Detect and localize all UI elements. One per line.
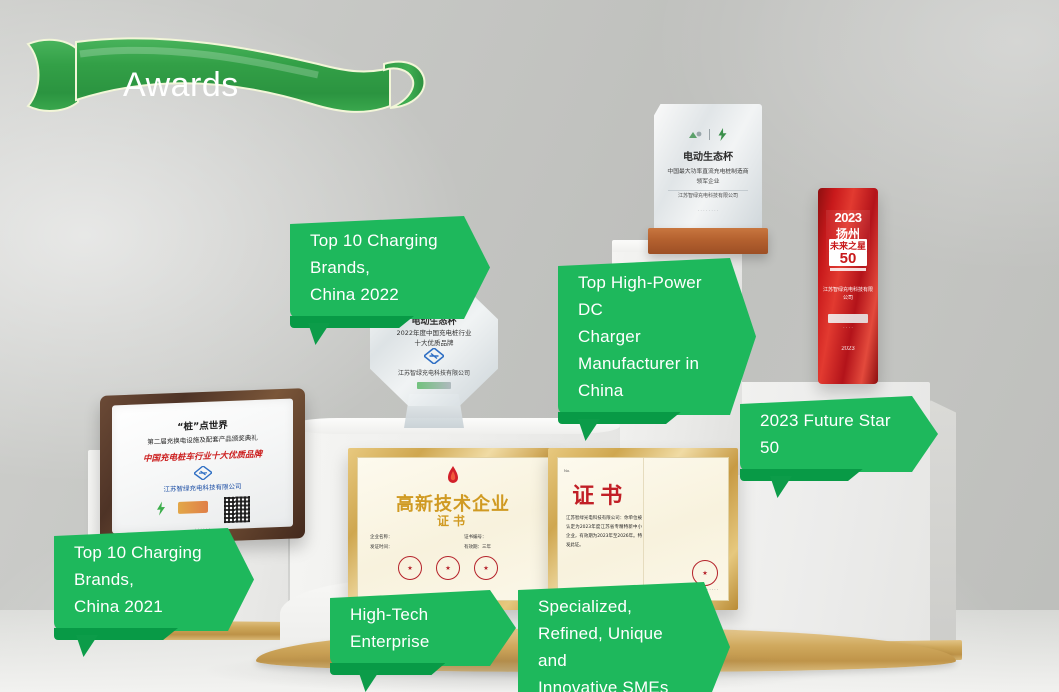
red-trophy-rank: 50: [829, 251, 868, 266]
callout-top-high-power-dc[interactable]: Top High-Power DC Charger Manufacturer i…: [558, 258, 756, 415]
cert-seal-3: [474, 556, 498, 580]
crystal-title: 电动生态杯: [654, 148, 762, 163]
plaque-frame: “桩”点世界 第二届充换电设施及配套产品颁奖典礼 中国充电桩车行业十大优质品牌 …: [100, 388, 305, 546]
octagon-footer-logo: [417, 382, 451, 389]
award-crystal-dc: 电动生态杯 中国最大功率直流充电桩制造商 领军企业 江苏智绿充电科技有限公司 ·…: [648, 104, 768, 256]
plaque-panel: “桩”点世界 第二届充换电设施及配套产品颁奖典礼 中国充电桩车行业十大优质品牌 …: [112, 399, 293, 534]
callout-top10-2021-label: Top 10 Charging Brands, China 2021: [54, 528, 254, 631]
plaque-qr-code: [224, 496, 250, 523]
crystal-company: 江苏智绿充电科技有限公司: [654, 192, 762, 199]
plaque-company: 江苏智绿充电科技有限公司: [112, 479, 293, 496]
callout-future-star-50-shade: [740, 469, 863, 481]
callout-high-tech-enterprise-shade: [330, 663, 445, 675]
crystal-line2: 中国最大功率直流充电桩制造商: [654, 166, 762, 175]
octagon-line3: 十大优质品牌: [370, 337, 498, 347]
ribbon-title: Awards: [123, 66, 239, 105]
cert-hightech-subtitle: 证书: [358, 512, 548, 529]
plaque-logo-diamond: [194, 466, 212, 481]
award-plaque-2021: “桩”点世界 第二届充换电设施及配套产品颁奖典礼 中国充电桩车行业十大优质品牌 …: [100, 392, 305, 542]
octagon-diamond-icon: [424, 348, 444, 364]
cert-seal-1: [398, 556, 422, 580]
cert-sme-body: 江苏智绿光电科技有限公司：你单位被认定为2023年度江苏省专精特新中小企业，有效…: [566, 514, 642, 550]
crystal-logo-row: [687, 128, 729, 141]
cert-sme-number: No.: [564, 468, 570, 473]
callout-top10-2021[interactable]: Top 10 Charging Brands, China 2021: [54, 528, 254, 631]
red-trophy-year: 2023: [829, 210, 868, 225]
callout-specialized-smes-label: Specialized, Refined, Unique and Innovat…: [518, 582, 730, 692]
callout-specialized-smes[interactable]: Specialized, Refined, Unique and Innovat…: [518, 582, 730, 692]
cert-hightech-field-number: 证书编号：: [464, 534, 487, 540]
callout-top-high-power-dc-label: Top High-Power DC Charger Manufacturer i…: [558, 258, 756, 415]
red-trophy-underline: [830, 268, 865, 271]
plaque-sponsor-logo-1: [154, 501, 168, 516]
cert-hightech-field-valid: 有效期：三年: [464, 544, 491, 550]
cert-seal-2: [436, 556, 460, 580]
crystal-line3: 领军企业: [654, 176, 762, 185]
crystal-footer-text: · · · · · · · ·: [654, 208, 762, 213]
red-trophy-body: 2023 扬州 未来之星 50 江苏智绿充电科技有限公司 · · · · 202…: [818, 188, 878, 384]
awards-poster: “桩”点世界 第二届充换电设施及配套产品颁奖典礼 中国充电桩车行业十大优质品牌 …: [0, 0, 1059, 692]
red-trophy-panel: 2023 扬州 未来之星 50: [826, 210, 870, 274]
callout-top-high-power-dc-shade: [558, 412, 681, 424]
crystal-block: 电动生态杯 中国最大功率直流充电桩制造商 领军企业 江苏智绿充电科技有限公司 ·…: [654, 104, 762, 230]
crystal-wood-base: [648, 228, 768, 254]
award-red-trophy: 2023 扬州 未来之星 50 江苏智绿充电科技有限公司 · · · · 202…: [818, 188, 878, 384]
red-trophy-sponsor-badge: [828, 314, 868, 323]
cert-sme-left-page: No. 证书 江苏智绿光电科技有限公司：你单位被认定为2023年度江苏省专精特新…: [558, 458, 644, 600]
plaque-award-name: 中国充电桩车行业十大优质品牌: [112, 447, 293, 466]
cert-hightech-paper: 高新技术企业 证书 企业名称： 证书编号： 发证时间： 有效期：三年: [357, 457, 549, 601]
cert-hightech-flame-icon: [441, 465, 465, 489]
cert-hightech-field-date: 发证时间：: [370, 544, 393, 550]
awards-ribbon: Awards: [18, 20, 438, 125]
octagon-company: 江苏智绿充电科技有限公司: [370, 368, 498, 377]
plaque-sponsor-logo-2: [178, 501, 208, 514]
callout-top10-2022-label: Top 10 Charging Brands, China 2022: [290, 216, 490, 319]
callout-top10-2022-shade: [290, 316, 414, 328]
red-trophy-company: 江苏智绿充电科技有限公司: [822, 286, 874, 302]
callout-top10-2022[interactable]: Top 10 Charging Brands, China 2022: [290, 216, 490, 319]
callout-top10-2021-shade: [54, 628, 178, 640]
cert-sme-paper: No. 证书 江苏智绿光电科技有限公司：你单位被认定为2023年度江苏省专精特新…: [557, 457, 729, 601]
callout-high-tech-enterprise[interactable]: High-Tech Enterprise: [330, 590, 516, 666]
octagon-line2: 2022年度中国充电桩行业: [370, 327, 498, 337]
red-trophy-sponsor-text: · · · ·: [828, 325, 868, 330]
red-trophy-footer-year: 2023: [818, 346, 878, 352]
crystal-divider: [668, 190, 748, 191]
cert-sme-title: 证书: [558, 478, 643, 510]
callout-future-star-50[interactable]: 2023 Future Star 50: [740, 396, 938, 472]
callout-high-tech-enterprise-label: High-Tech Enterprise: [330, 590, 516, 666]
callout-future-star-50-label: 2023 Future Star 50: [740, 396, 938, 472]
cert-sme-right-page: · · · · ·: [644, 458, 729, 600]
cert-hightech-field-company: 企业名称：: [370, 534, 393, 540]
